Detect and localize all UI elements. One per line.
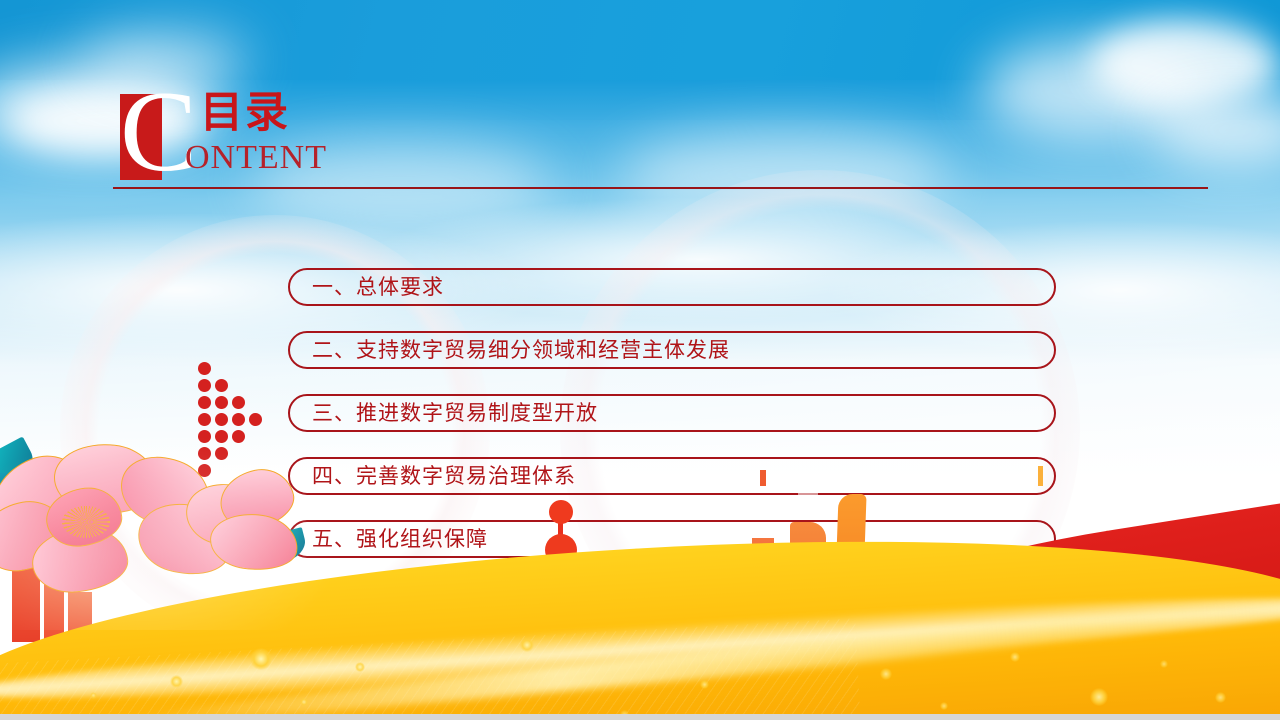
page-title-en: ONTENT	[185, 140, 327, 176]
antenna	[1038, 466, 1043, 486]
page-title-cn: 目录	[200, 91, 290, 135]
antenna	[760, 470, 766, 486]
bokeh-dot	[90, 692, 97, 699]
flower-glow	[0, 430, 340, 630]
slide-header: C 目录 ONTENT	[0, 0, 1280, 200]
bokeh-dot	[355, 662, 365, 672]
slide-root: C 目录 ONTENT 一、总体要求 二、支持数字贸易细分领域和经营主体发展	[0, 0, 1280, 720]
toc-item-1[interactable]: 一、总体要求	[288, 268, 1056, 306]
arrow-dot	[249, 413, 262, 426]
bokeh-dot	[250, 648, 272, 670]
arrow-dot	[198, 396, 211, 409]
bokeh-dot	[170, 675, 183, 688]
arrow-dot	[215, 379, 228, 392]
arrow-dot	[198, 379, 211, 392]
toc-item-label: 二、支持数字贸易细分领域和经营主体发展	[290, 338, 730, 362]
bokeh-dot	[880, 668, 892, 680]
bokeh-dot	[520, 638, 534, 652]
swfc-aperture	[798, 486, 818, 502]
arrow-dot	[232, 413, 245, 426]
arrow-dot	[198, 413, 211, 426]
arrow-dot	[232, 396, 245, 409]
bokeh-dot	[1090, 688, 1108, 706]
header-divider	[113, 187, 1208, 189]
arrow-dot	[215, 396, 228, 409]
toc-item-label: 一、总体要求	[290, 275, 444, 299]
toc-item-label: 三、推进数字贸易制度型开放	[290, 401, 598, 425]
bokeh-dot	[1215, 692, 1226, 703]
arrow-dot	[198, 362, 211, 375]
bokeh-dot	[700, 680, 709, 689]
bokeh-dot	[940, 702, 948, 710]
bokeh-dot	[1160, 660, 1168, 668]
bokeh-dot	[1010, 652, 1020, 662]
toc-item-2[interactable]: 二、支持数字贸易细分领域和经营主体发展	[288, 331, 1056, 369]
bokeh-dot	[300, 698, 308, 706]
pearl-tower-sphere-top	[549, 500, 573, 524]
bottom-strip	[0, 714, 1280, 720]
content-badge-letter: C	[120, 78, 184, 188]
toc-item-3[interactable]: 三、推进数字贸易制度型开放	[288, 394, 1056, 432]
arrow-dot	[215, 413, 228, 426]
